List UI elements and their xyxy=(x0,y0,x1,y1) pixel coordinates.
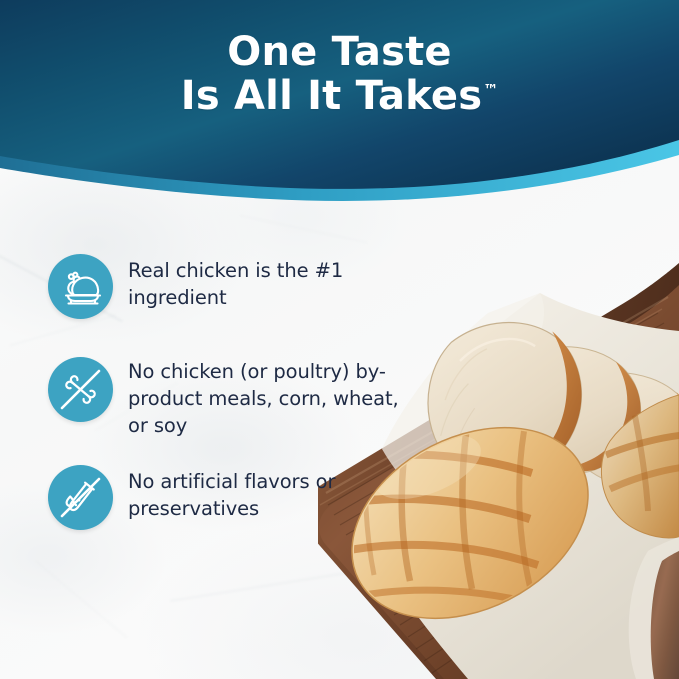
page-headline: One Taste Is All It Takes™ xyxy=(0,30,679,118)
marble-vein xyxy=(10,315,116,346)
header-banner: One Taste Is All It Takes™ xyxy=(0,0,679,215)
feature-text-real-chicken: Real chicken is the #1 ingredient xyxy=(128,254,420,311)
feature-item-real-chicken: Real chicken is the #1 ingredient xyxy=(48,254,420,319)
marble-vein xyxy=(35,560,128,638)
no-test-tube-icon xyxy=(48,465,113,530)
trademark-symbol: ™ xyxy=(483,81,498,99)
feature-text-no-artificial: No artificial flavors or preservatives xyxy=(128,465,420,522)
headline-line-2: Is All It Takes™ xyxy=(0,74,679,118)
no-bone-icon xyxy=(48,357,113,422)
roast-chicken-platter-icon xyxy=(48,254,113,319)
promo-image-canvas: One Taste Is All It Takes™ xyxy=(0,0,679,679)
headline-line-1: One Taste xyxy=(0,30,679,74)
feature-text-no-byproducts: No chicken (or poultry) by-product meals… xyxy=(128,357,420,439)
feature-item-no-artificial: No artificial flavors or preservatives xyxy=(48,465,420,530)
headline-line-2-text: Is All It Takes xyxy=(181,73,482,119)
feature-item-no-byproducts: No chicken (or poultry) by-product meals… xyxy=(48,357,420,439)
